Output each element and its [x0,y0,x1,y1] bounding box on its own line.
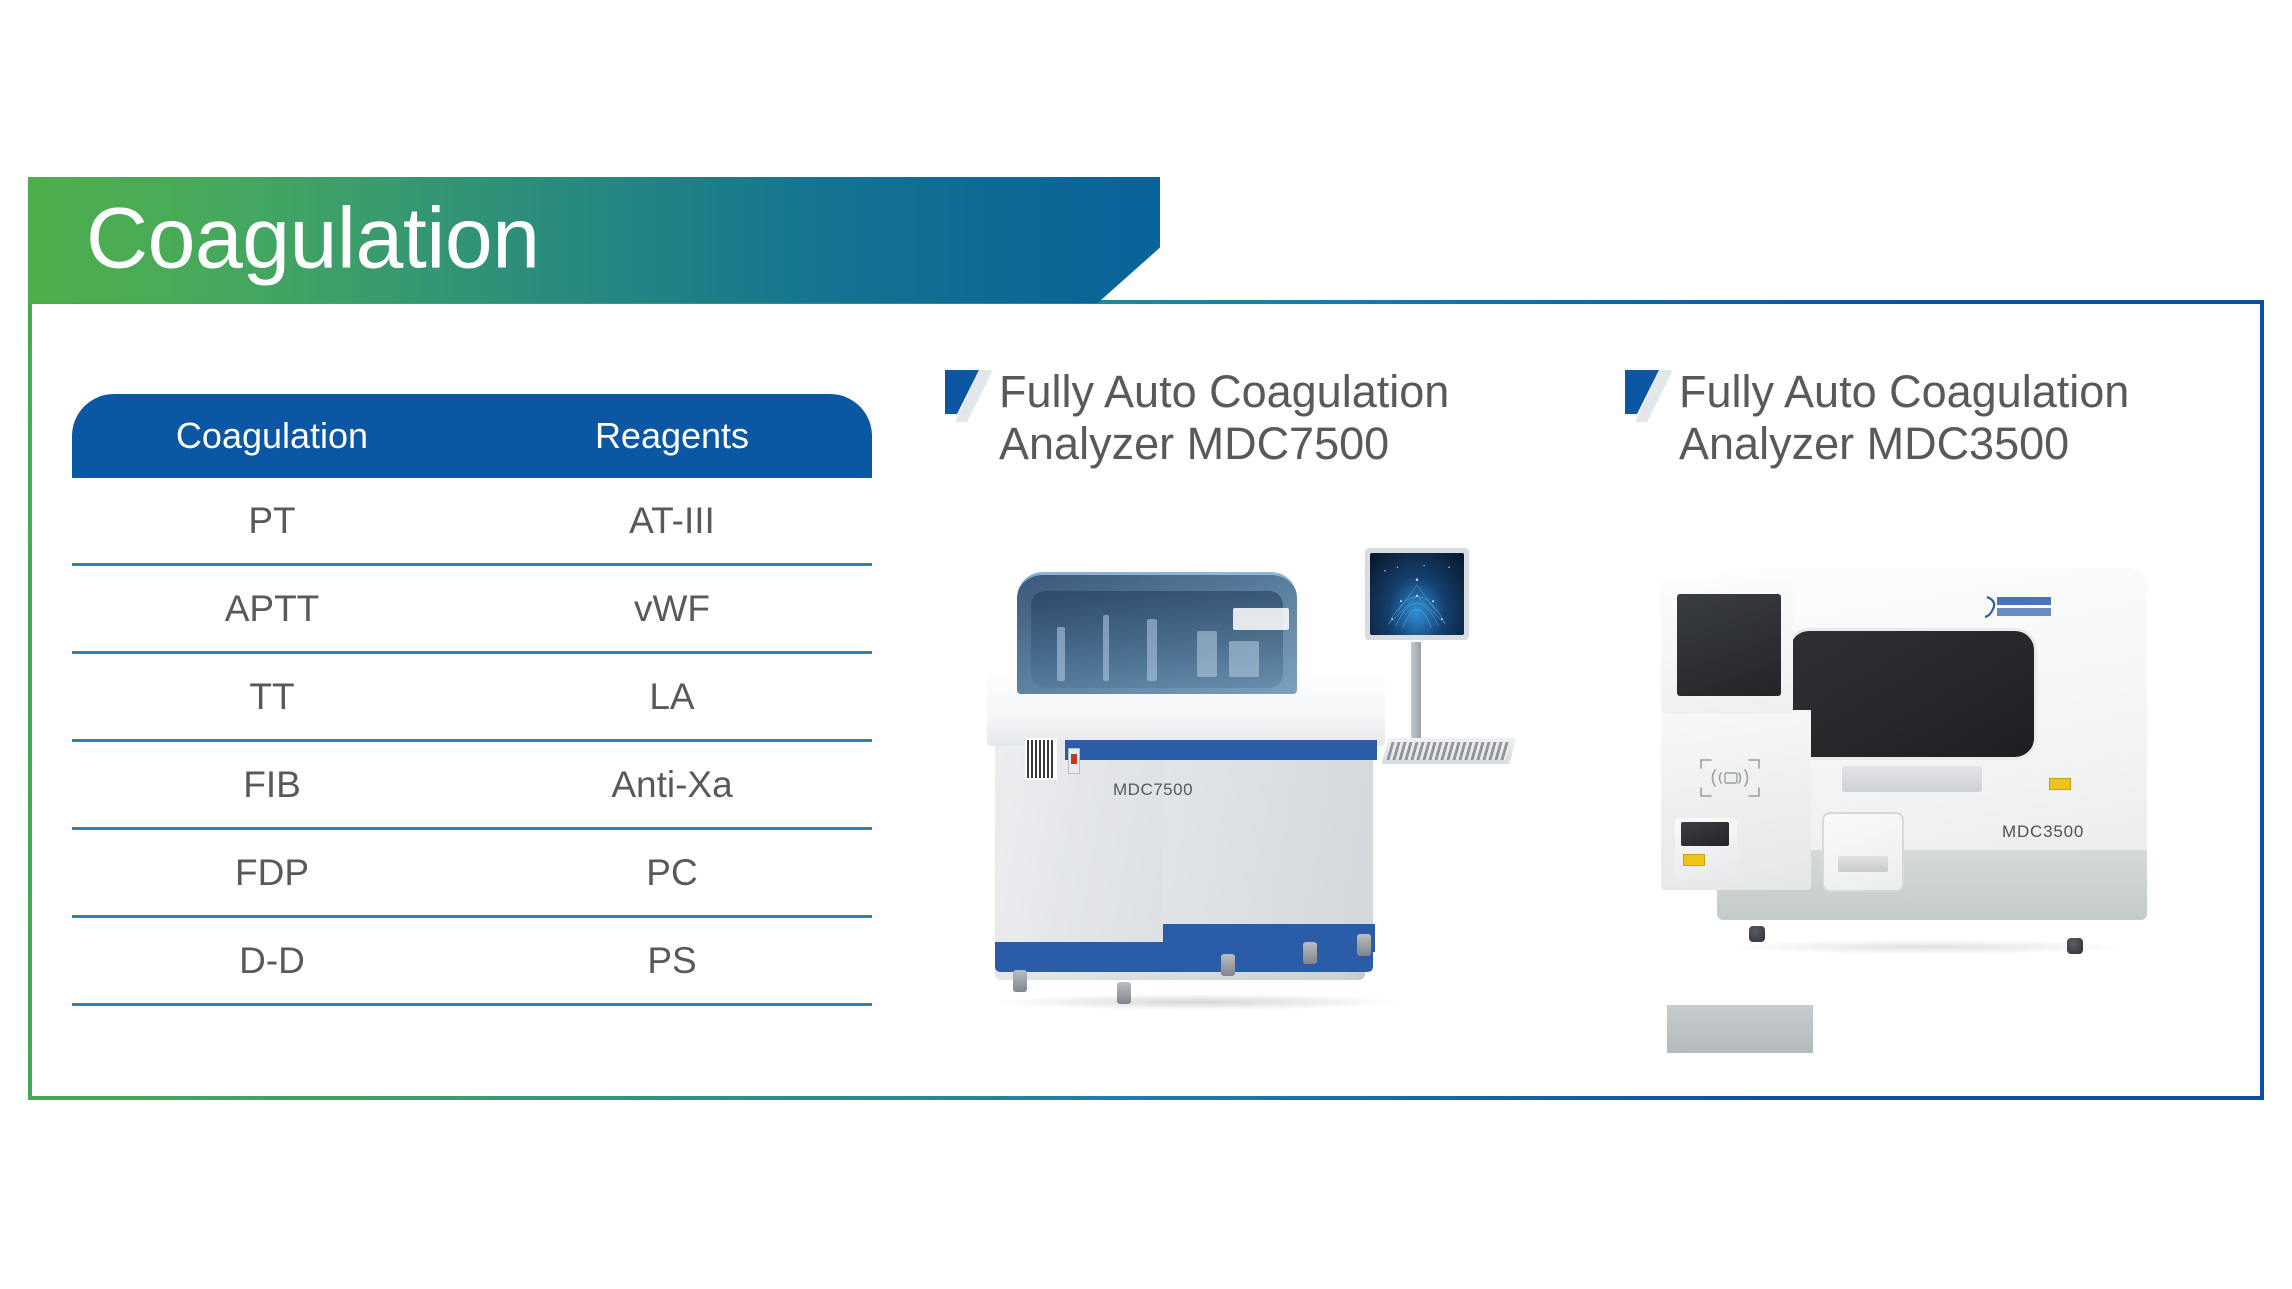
reagent-rack [1197,631,1217,677]
table-row: FDP PC [72,830,872,918]
pipettor-arm [1147,619,1157,681]
sample-rack [1229,641,1259,677]
touchscreen-housing [1661,580,1793,714]
rfid-scanner-icon [1699,758,1761,798]
cell-reagent: LA [472,676,872,718]
deck-trim [1065,740,1377,760]
product-heading: Fully Auto Coagulation Analyzer MDC3500 [1617,366,2257,496]
product-card-mdc7500: Fully Auto Coagulation Analyzer MDC7500 [937,366,1577,1014]
cell-coagulation: APTT [72,588,472,630]
cell-reagent: PC [472,852,872,894]
transparent-hood [1017,572,1297,694]
product-heading: Fully Auto Coagulation Analyzer MDC7500 [937,366,1577,496]
table-row: PT AT-III [72,478,872,566]
blue-flag-icon [1625,370,1677,432]
mdc3500-illustration: MDC3500 [1657,550,2217,1000]
product-card-mdc3500: Fully Auto Coagulation Analyzer MDC3500 [1617,366,2257,1014]
table-row: APTT vWF [72,566,872,654]
table-body: PT AT-III APTT vWF TT LA FIB Anti-Xa [72,478,872,1006]
barcode-label [1025,738,1057,780]
caster-wheel [1357,934,1371,956]
caster-wheel [1221,954,1235,976]
monitor-screen [1370,553,1464,635]
product-title: Fully Auto Coagulation Analyzer MDC7500 [999,366,1577,470]
monitor-stand [1411,642,1421,738]
product-title: Fully Auto Coagulation Analyzer MDC3500 [1679,366,2257,470]
blue-flag-icon [945,370,997,432]
product-image-mdc3500: MDC3500 [1617,514,2257,1014]
caster-wheel [1013,970,1027,992]
column-base [1667,1005,1813,1053]
cell-coagulation: TT [72,676,472,718]
keyboard [1381,738,1516,764]
product-image-mdc7500: MDC7500 [937,514,1577,1014]
table-row: FIB Anti-Xa [72,742,872,830]
warning-sticker [2049,778,2071,790]
column-header-coagulation: Coagulation [72,415,472,457]
mdc7500-illustration: MDC7500 [965,542,1565,1012]
device-model-label: MDC3500 [2002,822,2084,842]
cell-coagulation: FDP [72,852,472,894]
cell-coagulation: FIB [72,764,472,806]
coagulation-table: Coagulation Reagents PT AT-III APTT vWF … [72,394,872,1006]
warning-sticker [1683,854,1705,866]
sample-feeder [1675,818,1737,880]
table-row: D-D PS [72,918,872,1006]
power-switch [1068,748,1080,774]
cell-reagent: AT-III [472,500,872,542]
inspection-window [1787,628,2037,760]
device-shadow [999,994,1399,1010]
content-card-border: Coagulation Reagents PT AT-III APTT vWF … [28,300,2264,1100]
rubber-foot [1749,926,1765,942]
pipettor-arm [1103,615,1109,681]
monitor [1365,548,1469,640]
plexus-graphic [1370,553,1464,635]
content-card: Coagulation Reagents PT AT-III APTT vWF … [32,304,2260,1096]
sample-drawer [1842,766,1982,792]
feeder-slot [1681,822,1729,846]
table-row: TT LA [72,654,872,742]
door-handle [1838,856,1888,872]
column-header-reagents: Reagents [472,415,872,457]
caster-wheel [1117,982,1131,1004]
cell-reagent: vWF [472,588,872,630]
cell-coagulation: PT [72,500,472,542]
slide-page: Coagulation Reagents PT AT-III APTT vWF … [0,0,2292,1289]
cell-reagent: PS [472,940,872,982]
rubber-foot [2067,938,2083,954]
caster-wheel [1303,942,1317,964]
brand-logo-icon [1983,594,2057,620]
cell-coagulation: D-D [72,940,472,982]
cell-reagent: Anti-Xa [472,764,872,806]
page-title: Coagulation [86,195,540,281]
touchscreen-display[interactable] [1677,594,1781,696]
pipettor-arm [1057,627,1065,681]
table-header-row: Coagulation Reagents [72,394,872,478]
section-banner: Coagulation [28,177,1160,303]
access-door [1822,812,1904,892]
brand-logo-icon [1233,608,1289,630]
device-model-label: MDC7500 [1113,780,1193,800]
